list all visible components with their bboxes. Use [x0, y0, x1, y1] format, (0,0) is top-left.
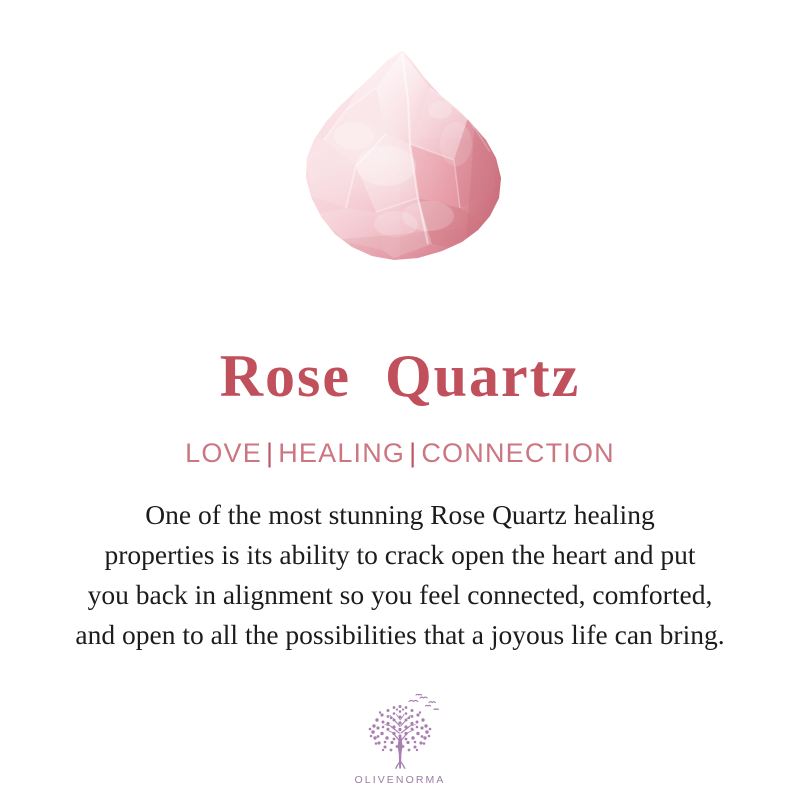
description-line: you back in alignment so you feel connec… [30, 575, 770, 615]
keyword-subtitle: LOVE|HEALING|CONNECTION [185, 406, 615, 469]
keyword-separator: | [405, 438, 421, 468]
rose-quartz-crystal-image [290, 48, 510, 278]
description-line: properties is its ability to crack open … [30, 535, 770, 575]
hero-image-area [0, 0, 800, 300]
page-title: Rose Quartz [220, 300, 581, 406]
description-paragraph: One of the most stunning Rose Quartz hea… [30, 469, 770, 655]
keyword-love: LOVE [185, 438, 262, 468]
tree-with-birds-icon [354, 692, 446, 772]
description-line: and open to all the possibilities that a… [30, 615, 770, 655]
poster-canvas: Rose Quartz LOVE|HEALING|CONNECTION One … [0, 0, 800, 800]
description-line: One of the most stunning Rose Quartz hea… [30, 495, 770, 535]
brand-logo: OLIVENORMA [0, 692, 800, 786]
keyword-separator: | [262, 438, 278, 468]
keyword-healing: HEALING [278, 438, 405, 468]
keyword-connection: CONNECTION [421, 438, 615, 468]
brand-wordmark: OLIVENORMA [354, 774, 445, 786]
